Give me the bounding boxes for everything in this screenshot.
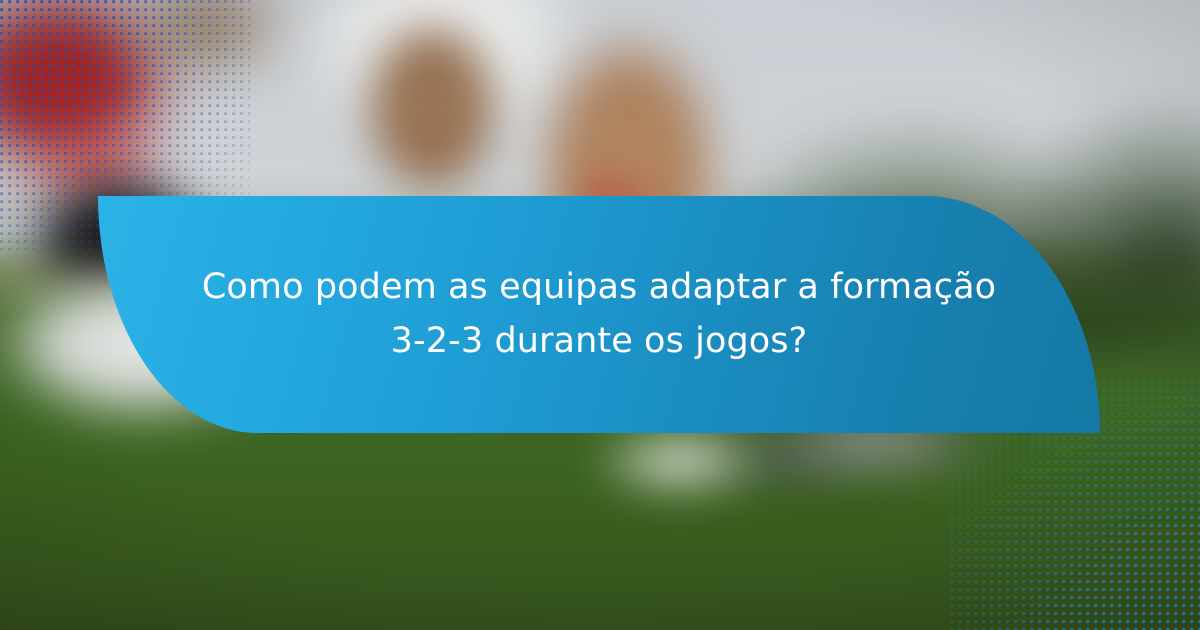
social-card: Como podem as equipas adaptar a formação… — [0, 0, 1200, 630]
headline-banner: Como podem as equipas adaptar a formação… — [98, 196, 1100, 433]
headline-line-2: 3-2-3 durante os jogos? — [391, 323, 808, 361]
headline-line-1: Como podem as equipas adaptar a formação — [202, 269, 996, 307]
headline-text-block: Como podem as equipas adaptar a formação… — [98, 196, 1100, 433]
